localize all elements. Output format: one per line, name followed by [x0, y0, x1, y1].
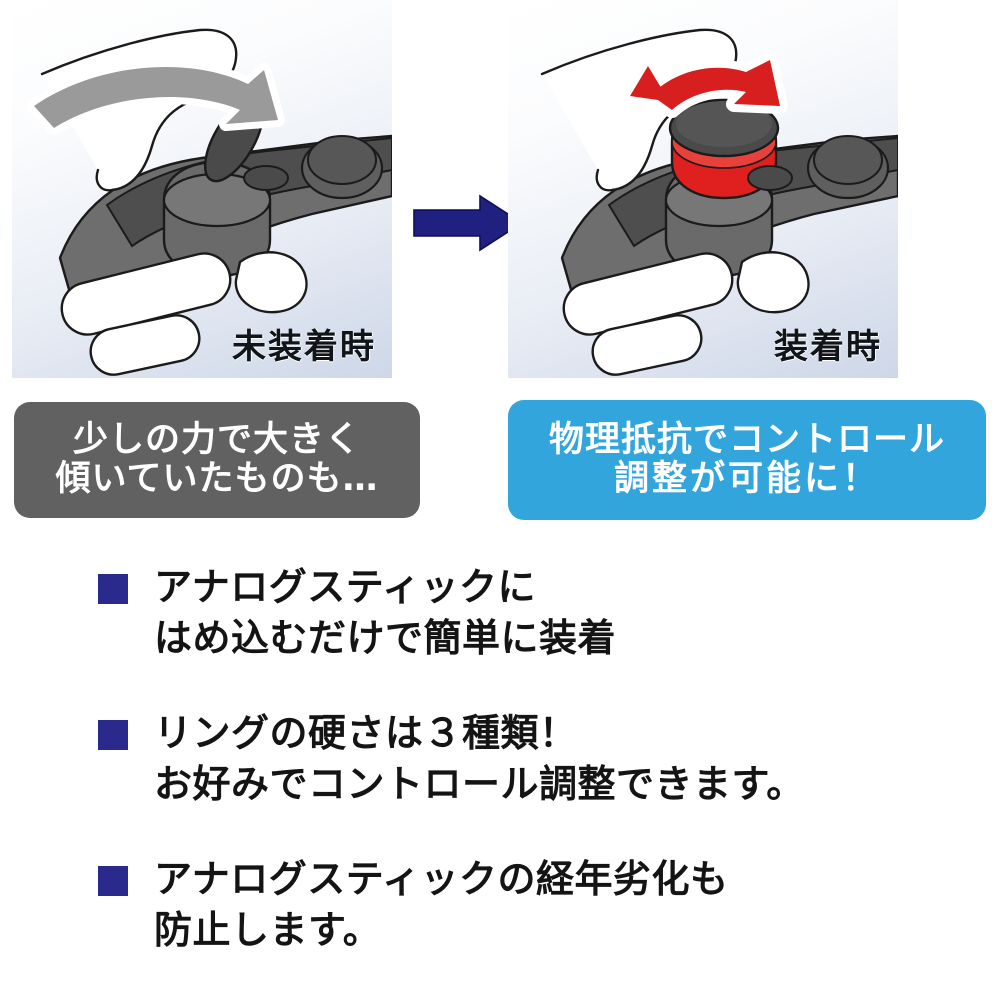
- square-bullet-icon: [98, 866, 128, 896]
- controller-after-illustration: [508, 0, 898, 378]
- list-item-line: アナログスティックの経年劣化も: [154, 854, 728, 905]
- list-item-text: リングの硬さは３種類！ お好みでコントロール調整できます。: [154, 708, 805, 809]
- list-item: アナログスティックの経年劣化も 防止します。: [98, 854, 968, 955]
- illustration-panel-before: 未装着時: [12, 0, 392, 378]
- banner-after-line2: 調整が可能に！: [614, 460, 880, 499]
- list-item: アナログスティックに はめ込むだけで簡単に装着: [98, 562, 968, 663]
- product-feature-infographic: 未装着時: [0, 0, 1000, 1000]
- list-item-line: アナログスティックに: [154, 562, 616, 613]
- list-item-line: はめ込むだけで簡単に装着: [154, 613, 616, 664]
- illustration-panel-after: 装着時: [508, 0, 898, 378]
- panel-label-before: 未装着時: [232, 330, 376, 364]
- square-bullet-icon: [98, 574, 128, 604]
- list-item-text: アナログスティックに はめ込むだけで簡単に装着: [154, 562, 616, 663]
- square-bullet-icon: [98, 720, 128, 750]
- banner-before-line1: 少しの力で大きく: [73, 421, 361, 460]
- list-item-line: お好みでコントロール調整できます。: [154, 759, 805, 810]
- list-item-line: 防止します。: [154, 905, 728, 956]
- panel-label-after: 装着時: [774, 330, 882, 364]
- banner-before-line2: 傾いていたものも…: [56, 460, 379, 499]
- list-item: リングの硬さは３種類！ お好みでコントロール調整できます。: [98, 708, 968, 809]
- banner-after: 物理抵抗でコントロール 調整が可能に！: [508, 400, 986, 520]
- controller-before-illustration: [12, 0, 392, 378]
- feature-list: アナログスティックに はめ込むだけで簡単に装着 リングの硬さは３種類！ お好みで…: [98, 562, 968, 1000]
- banner-after-line1: 物理抵抗でコントロール: [549, 421, 945, 460]
- list-item-line: リングの硬さは３種類！: [154, 708, 805, 759]
- list-item-text: アナログスティックの経年劣化も 防止します。: [154, 854, 728, 955]
- banner-before: 少しの力で大きく 傾いていたものも…: [14, 402, 420, 518]
